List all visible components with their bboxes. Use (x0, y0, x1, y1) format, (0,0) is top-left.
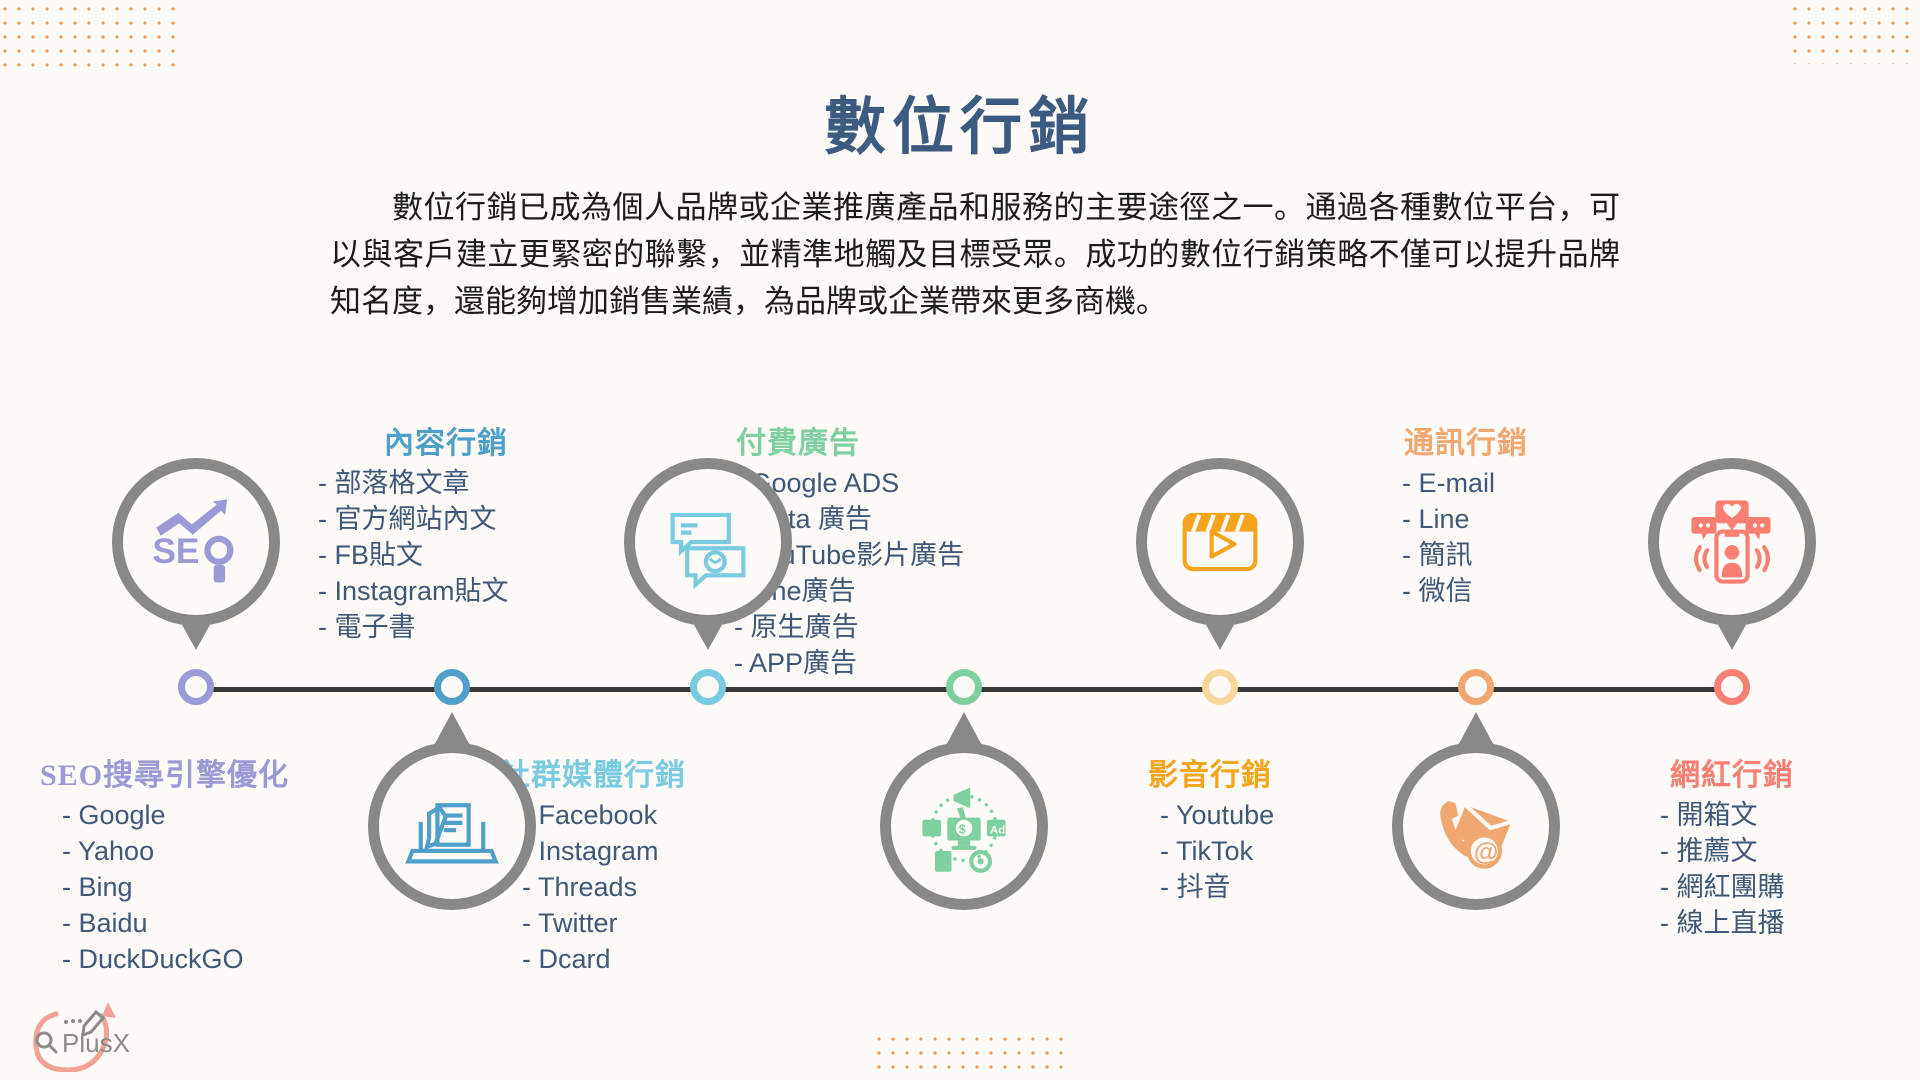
timeline-node-kol[interactable] (1714, 669, 1750, 705)
list-item: Bing (62, 870, 370, 906)
list-item: Facebook (522, 798, 800, 834)
block-list-content: 部落格文章 官方網站內文 FB貼文 Instagram貼文 電子書 (296, 466, 596, 646)
pin-seo[interactable]: SE (112, 458, 280, 654)
ad-monitor-megaphone-icon: $ Ad (912, 774, 1016, 878)
list-item: 微信 (1402, 574, 1670, 610)
block-title-comm: 通訊行銷 (1390, 418, 1670, 462)
list-item: 官方網站內文 (318, 502, 596, 538)
list-item: Yahoo (62, 834, 370, 870)
svg-text:Ad: Ad (990, 824, 1005, 836)
intro-paragraph: 數位行銷已成為個人品牌或企業推廣產品和服務的主要途徑之一。通過各種數位平台，可以… (330, 184, 1620, 325)
block-seo: SEO搜尋引擎優化 Google Yahoo Bing Baidu DuckDu… (40, 750, 370, 978)
pin-bubble: @ (1392, 742, 1560, 910)
block-list-social: Facebook Instagram Threads Twitter Dcard (500, 798, 800, 978)
list-item: E-mail (1402, 466, 1670, 502)
svg-text:@: @ (1474, 838, 1498, 866)
block-title-social: 社群媒體行銷 (500, 750, 800, 794)
pin-bubble (624, 458, 792, 626)
block-title-kol: 網紅行銷 (1650, 750, 1920, 794)
clapperboard-play-icon (1168, 490, 1272, 594)
phone-envelope-at-icon: @ (1424, 774, 1528, 878)
list-item: Dcard (522, 942, 800, 978)
pin-content[interactable] (368, 714, 536, 910)
pin-paid[interactable]: $ Ad (880, 714, 1048, 910)
list-item: Youtube (1160, 798, 1428, 834)
list-item: Google (62, 798, 370, 834)
pin-bubble: $ Ad (880, 742, 1048, 910)
timeline-node-paid[interactable] (946, 669, 982, 705)
dot-pattern-top-right (1788, 2, 1916, 64)
svg-text:$: $ (959, 822, 966, 836)
list-item: Twitter (522, 906, 800, 942)
list-item: Baidu (62, 906, 370, 942)
dot-pattern-bottom-center (872, 1032, 1072, 1078)
list-item: Line (1402, 502, 1670, 538)
list-item: 開箱文 (1660, 798, 1920, 834)
page-title: 數位行銷 (0, 76, 1920, 166)
list-item: TikTok (1160, 834, 1428, 870)
phone-person-likes-icon (1680, 490, 1784, 594)
list-item: 電子書 (318, 610, 596, 646)
timeline-node-seo[interactable] (178, 669, 214, 705)
list-item: 推薦文 (1660, 834, 1920, 870)
list-item: 網紅團購 (1660, 870, 1920, 906)
block-list-comm: E-mail Line 簡訊 微信 (1390, 466, 1670, 610)
svg-text:SE: SE (152, 532, 199, 571)
block-content: 內容行銷 部落格文章 官方網站內文 FB貼文 Instagram貼文 電子書 (296, 418, 596, 646)
dot-pattern-top-left (0, 2, 184, 76)
block-title-video: 影音行銷 (1148, 750, 1428, 794)
pin-kol[interactable] (1648, 458, 1816, 654)
block-list-video: Youtube TikTok 抖音 (1148, 798, 1428, 906)
timeline-node-comm[interactable] (1458, 669, 1494, 705)
block-kol: 網紅行銷 開箱文 推薦文 網紅團購 線上直播 (1650, 750, 1920, 942)
block-title-content: 內容行銷 (296, 418, 596, 462)
pin-video[interactable] (1136, 458, 1304, 654)
pin-comm[interactable]: @ (1392, 714, 1560, 910)
timeline-node-content[interactable] (434, 669, 470, 705)
chat-bubbles-heart-icon (656, 490, 760, 594)
plusx-logo: PlusX (18, 994, 168, 1072)
pin-bubble (368, 742, 536, 910)
pin-bubble (1136, 458, 1304, 626)
list-item: FB貼文 (318, 538, 596, 574)
block-comm: 通訊行銷 E-mail Line 簡訊 微信 (1390, 418, 1670, 610)
block-title-paid: 付費廣告 (726, 418, 1026, 462)
block-list-seo: Google Yahoo Bing Baidu DuckDuckGO (40, 798, 370, 978)
block-list-kol: 開箱文 推薦文 網紅團購 線上直播 (1650, 798, 1920, 942)
block-video: 影音行銷 Youtube TikTok 抖音 (1148, 750, 1428, 906)
list-item: 部落格文章 (318, 466, 596, 502)
laptop-document-pencil-icon (400, 774, 504, 878)
list-item: 原生廣告 (734, 610, 1026, 646)
logo-text: PlusX (62, 1028, 130, 1058)
list-item: 抖音 (1160, 870, 1428, 906)
list-item: 簡訊 (1402, 538, 1670, 574)
seo-growth-magnifier-icon: SE (144, 490, 248, 594)
list-item: Threads (522, 870, 800, 906)
list-item: APP廣告 (734, 646, 1026, 682)
list-item: 線上直播 (1660, 906, 1920, 942)
list-item: Instagram (522, 834, 800, 870)
block-title-seo: SEO搜尋引擎優化 (40, 750, 370, 794)
timeline-node-social[interactable] (690, 669, 726, 705)
pin-bubble: SE (112, 458, 280, 626)
pin-bubble (1648, 458, 1816, 626)
block-social: 社群媒體行銷 Facebook Instagram Threads Twitte… (500, 750, 800, 978)
list-item: Instagram貼文 (318, 574, 596, 610)
timeline-node-video[interactable] (1202, 669, 1238, 705)
list-item: DuckDuckGO (62, 942, 370, 978)
